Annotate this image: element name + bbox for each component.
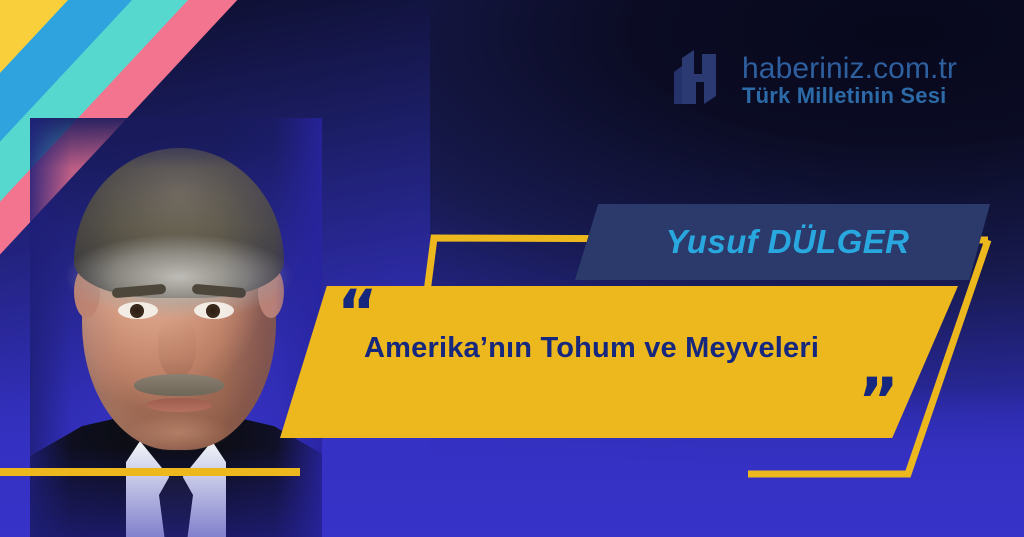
article-title-box: “ Amerika’nın Tohum ve Meyveleri ” — [280, 286, 958, 438]
site-name: haberiniz.com.tr — [742, 54, 957, 85]
article-title: Amerika’nın Tohum ve Meyveleri — [364, 332, 944, 365]
logo-text-block: haberiniz.com.tr Türk Milletinin Sesi — [742, 54, 957, 107]
site-tagline: Türk Milletinin Sesi — [742, 85, 957, 107]
author-name-banner: Yusuf DÜLGER — [575, 204, 990, 280]
author-name: Yusuf DÜLGER — [575, 223, 990, 261]
quote-close-icon: ” — [858, 370, 899, 432]
article-header-banner: haberiniz.com.tr Türk Milletinin Sesi Yu… — [0, 0, 1024, 537]
yellow-bottom-strip — [0, 468, 300, 476]
site-logo[interactable]: haberiniz.com.tr Türk Milletinin Sesi — [668, 50, 957, 112]
h-monogram-logo-icon — [668, 50, 724, 112]
